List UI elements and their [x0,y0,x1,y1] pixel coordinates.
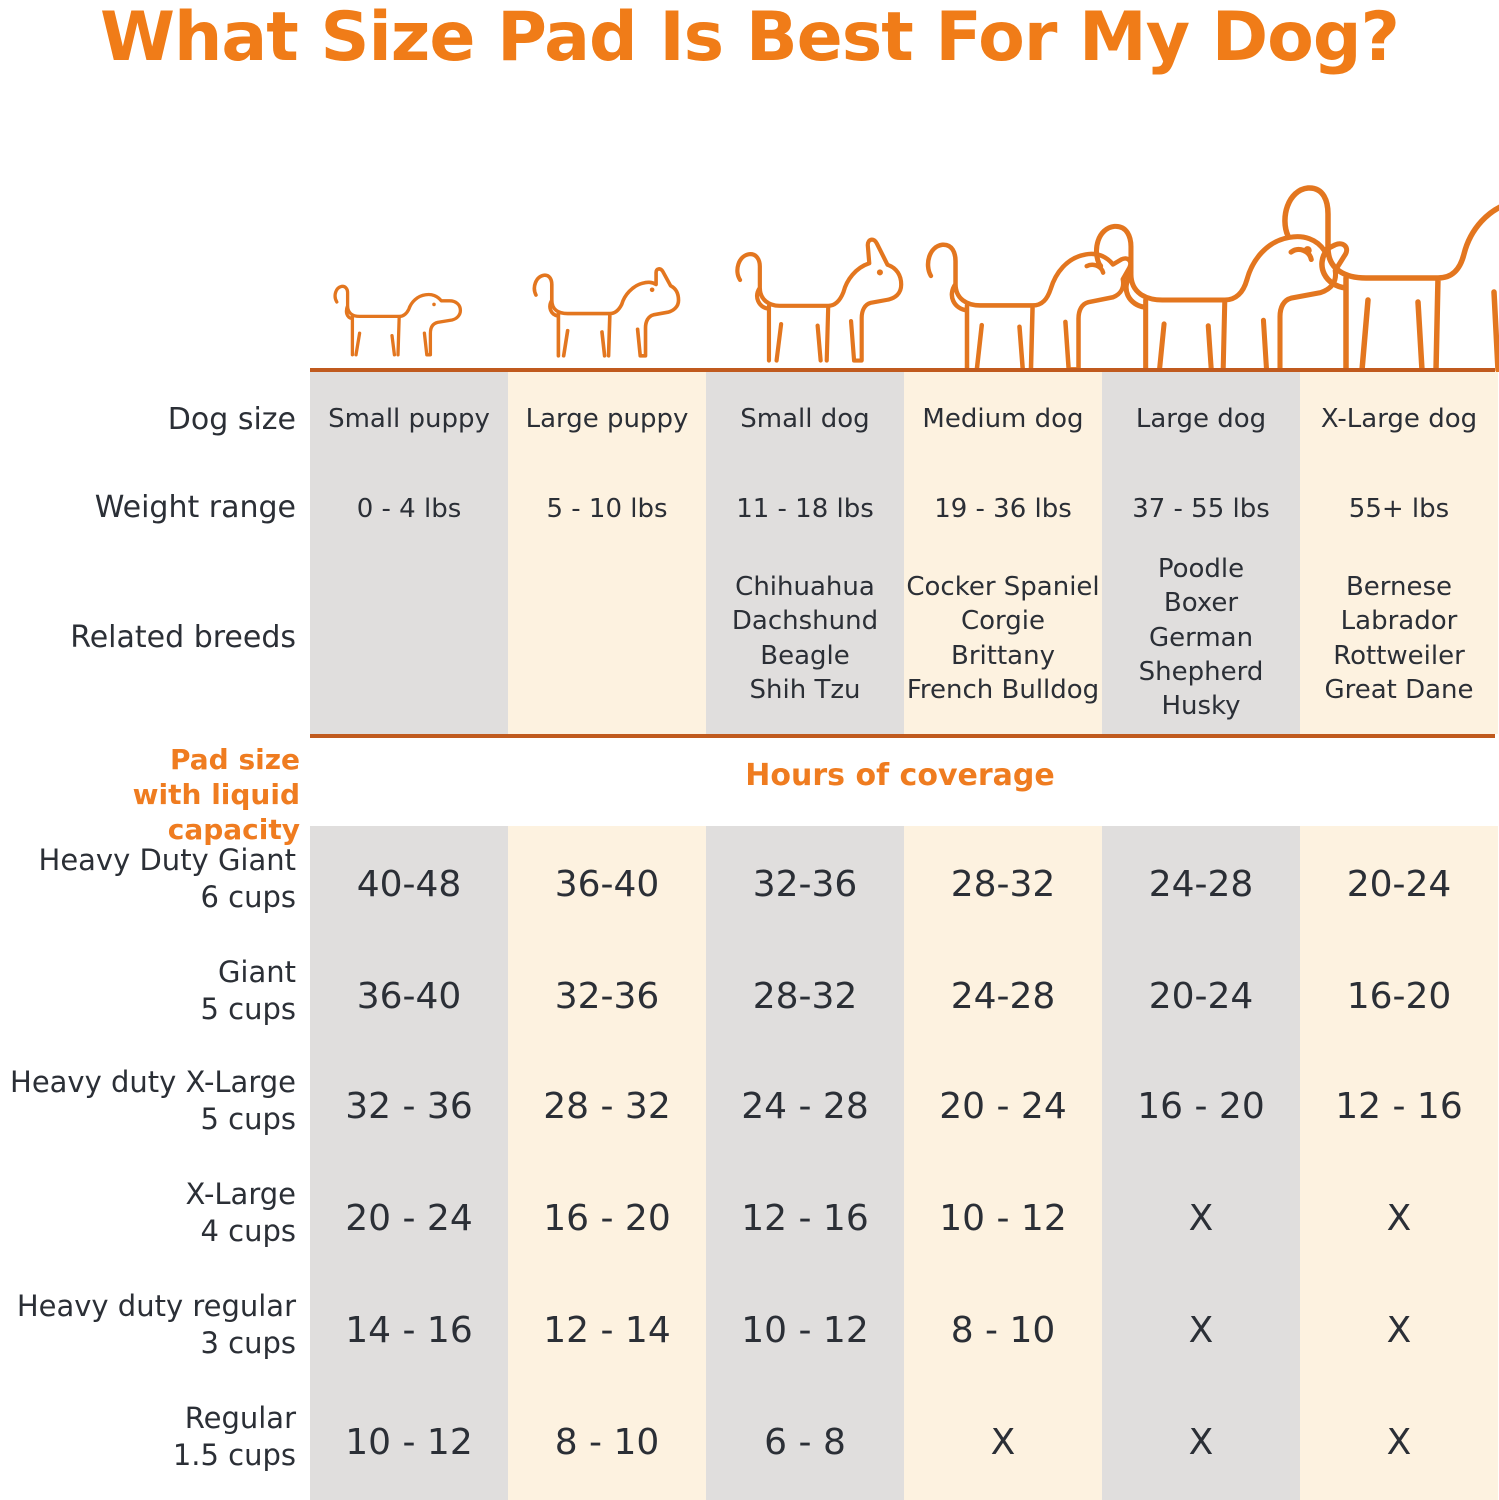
cell-related-breeds: Bernese Labrador Rottweiler Great Dane [1300,570,1498,707]
cell-dog-size: Small puppy [310,402,508,436]
row-label-related-breeds: Related breeds [0,620,296,655]
small-puppy-dog-icon [335,286,460,354]
table-cell: 24 - 28 [706,1086,904,1127]
table-row-label: Regular 1.5 cups [0,1400,296,1474]
table-cell: 24-28 [904,976,1102,1017]
cell-dog-size: Large puppy [508,402,706,436]
row-label-dog-size: Dog size [0,402,296,437]
pad-capacity: 6 cups [0,879,296,916]
data-column-strip-small-dog [706,826,904,1500]
table-cell: 28-32 [904,864,1102,905]
cell-dog-size: Large dog [1102,402,1300,436]
section-divider-rule [310,734,1495,738]
pad-name: Heavy Duty Giant [0,842,296,879]
table-cell: 28-32 [706,976,904,1017]
table-cell: X [1300,1310,1498,1351]
row-label-weight-range: Weight range [0,490,296,525]
large-puppy-dog-icon [534,269,678,356]
table-cell: X [904,1422,1102,1463]
table-row-label: X-Large 4 cups [0,1176,296,1250]
table-cell: 40-48 [310,864,508,905]
infographic-page: What Size Pad Is Best For My Dog? [0,0,1499,1500]
table-cell: 32-36 [706,864,904,905]
table-cell: 16-20 [1300,976,1498,1017]
table-row-label: Heavy duty X-Large 5 cups [0,1064,296,1138]
table-row-label: Heavy Duty Giant 6 cups [0,842,296,916]
pad-name: X-Large [0,1176,296,1213]
table-cell: 12 - 16 [1300,1086,1498,1127]
table-cell: X [1102,1198,1300,1239]
pad-name: Regular [0,1400,296,1437]
hours-of-coverage-header-label: Hours of coverage [520,758,1280,793]
data-column-strip-small-puppy [310,826,508,1500]
cell-related-breeds: Cocker Spaniel Corgie Brittany French Bu… [904,570,1102,707]
cell-weight-range: 11 - 18 lbs [706,492,904,526]
data-column-strip-x-large-dog [1300,826,1498,1500]
dog-silhouette-band [310,150,1499,372]
pad-name: Giant [0,954,296,991]
pad-capacity: 5 cups [0,1101,296,1138]
table-row-label: Heavy duty regular 3 cups [0,1288,296,1362]
table-cell: 36-40 [310,976,508,1017]
cell-dog-size: X-Large dog [1300,402,1498,436]
pad-capacity: 5 cups [0,991,296,1028]
table-cell: 36-40 [508,864,706,905]
table-cell: X [1102,1422,1300,1463]
table-cell: 32 - 36 [310,1086,508,1127]
cell-weight-range: 19 - 36 lbs [904,492,1102,526]
table-cell: 8 - 10 [904,1310,1102,1351]
table-cell: 14 - 16 [310,1310,508,1351]
pad-capacity: 1.5 cups [0,1437,296,1474]
table-cell: 12 - 14 [508,1310,706,1351]
table-cell: 20-24 [1102,976,1300,1017]
dog-info-table: Dog size Weight range Related breeds Sma… [0,372,1499,734]
table-cell: 32-36 [508,976,706,1017]
table-cell: 24-28 [1102,864,1300,905]
large-dog-icon [1096,226,1346,372]
small-dog-icon [737,240,901,361]
table-cell: 6 - 8 [706,1422,904,1463]
table-cell: 10 - 12 [904,1198,1102,1239]
cell-dog-size: Medium dog [904,402,1102,436]
table-cell: X [1102,1310,1300,1351]
x-large-dog-icon [1285,167,1499,371]
cell-dog-size: Small dog [706,402,904,436]
pad-capacity: 3 cups [0,1325,296,1362]
cell-weight-range: 37 - 55 lbs [1102,492,1300,526]
pad-name: Heavy duty X-Large [0,1064,296,1101]
table-row-label: Giant 5 cups [0,954,296,1028]
data-column-strip-large-puppy [508,826,706,1500]
table-cell: 20 - 24 [904,1086,1102,1127]
table-cell: X [1300,1198,1498,1239]
table-cell: 28 - 32 [508,1086,706,1127]
table-cell: 10 - 12 [310,1422,508,1463]
table-cell: X [1300,1422,1498,1463]
page-title: What Size Pad Is Best For My Dog? [0,2,1499,73]
pad-name: Heavy duty regular [0,1288,296,1325]
cell-weight-range: 5 - 10 lbs [508,492,706,526]
table-cell: 8 - 10 [508,1422,706,1463]
table-cell: 12 - 16 [706,1198,904,1239]
pad-coverage-table: Heavy Duty Giant 6 cups 40-48 36-40 32-3… [0,826,1499,1500]
cell-weight-range: 0 - 4 lbs [310,492,508,526]
pad-capacity: 4 cups [0,1213,296,1250]
table-cell: 20-24 [1300,864,1498,905]
table-cell: 16 - 20 [508,1198,706,1239]
data-column-strip-medium-dog [904,826,1102,1500]
cell-weight-range: 55+ lbs [1300,492,1498,526]
table-cell: 20 - 24 [310,1198,508,1239]
table-cell: 10 - 12 [706,1310,904,1351]
table-cell: 16 - 20 [1102,1086,1300,1127]
cell-related-breeds: Chihuahua Dachshund Beagle Shih Tzu [706,570,904,707]
data-column-strip-large-dog [1102,826,1300,1500]
cell-related-breeds: Poodle Boxer German Shepherd Husky [1102,552,1300,724]
